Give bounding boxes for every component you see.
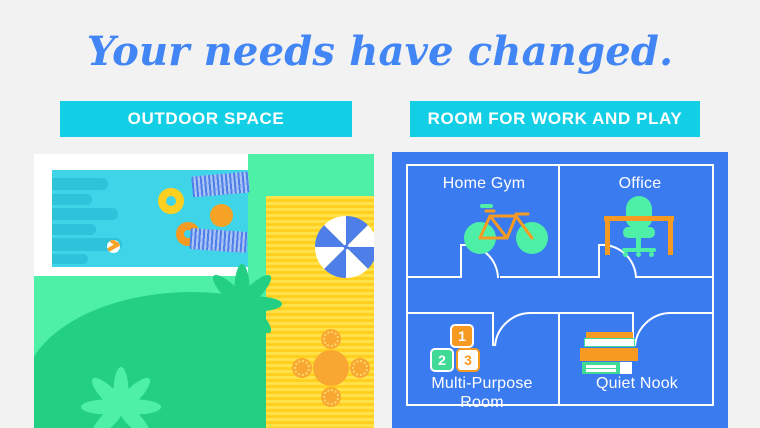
patio-table [313,350,349,386]
room-label-home-gym: Home Gym [414,174,554,193]
book-bottom-edge [620,362,632,374]
wall-lower-a [406,312,494,314]
wall-right [712,164,714,406]
desk-leg-right [668,221,673,255]
patio-deck [266,196,374,428]
book-top-pages [584,338,635,347]
patio-chair [350,358,370,378]
patio-chair [321,329,341,349]
palm-plant-lower [86,372,156,428]
book-stack-icon [580,332,640,380]
toy-block-1: 1 [450,324,474,348]
wall-mid-c [636,276,714,278]
wall-lower-c [670,312,714,314]
section-banner-indoor-label: ROOM FOR WORK AND PLAY [428,109,683,129]
section-banner-indoor: ROOM FOR WORK AND PLAY [410,101,700,137]
floorplan-illustration: Home Gym Office [392,152,728,428]
room-label-multi-purpose-room: Multi-Purpose Room [406,374,558,412]
section-banner-outdoor-label: OUTDOOR SPACE [128,109,285,129]
wall-mid-a [406,276,462,278]
book-middle [580,348,638,361]
book-bottom-page-line-2 [586,369,616,372]
desk-top [604,216,674,221]
toy-block-2: 2 [430,348,454,372]
wall-vert-lower [558,312,560,406]
wall-left [406,164,408,406]
patio-chair [321,387,341,407]
palm-plant-upper [204,266,280,342]
page-title: Your needs have changed. [0,28,760,76]
door-arc-multi-purpose-room [494,312,534,348]
chair-back [626,196,652,228]
section-banner-outdoor: OUTDOOR SPACE [60,101,352,137]
lounge-chair-lower [189,228,247,253]
wall-lower-b [532,312,632,314]
pool-ring-yellow [158,188,184,214]
outdoor-illustration [34,154,374,428]
pool-wave [52,208,118,220]
wall-top [406,164,714,166]
pool-wave [52,178,108,190]
wall-vert-upper [558,164,560,278]
room-label-mpr-line2: Room [460,394,503,411]
bicycle-icon [464,204,550,254]
room-label-office: Office [572,174,708,193]
toy-blocks-icon: 1 2 3 [430,324,496,374]
book-bottom-page-line-1 [586,365,616,368]
chair-wheel [636,252,641,257]
infographic-canvas: Your needs have changed. OUTDOOR SPACE R… [0,0,760,428]
chair-wheel [649,252,654,257]
pool-wave [52,254,88,264]
desk-leg-left [605,221,610,255]
toy-block-3: 3 [456,348,480,372]
pool-wave [52,194,92,205]
patio-table-with-four-chairs [294,331,368,405]
door-arc-quiet-nook [634,312,674,348]
patio-umbrella [313,214,374,280]
pool-wave [52,224,96,235]
patio-chair [292,358,312,378]
desk-chair-icon [604,196,676,258]
chair-wheel [623,252,628,257]
beach-ball [107,240,120,253]
wall-mid-b [500,276,600,278]
room-label-quiet-nook: Quiet Nook [564,374,710,393]
room-label-mpr-line1: Multi-Purpose [431,375,532,392]
side-table [210,204,233,227]
